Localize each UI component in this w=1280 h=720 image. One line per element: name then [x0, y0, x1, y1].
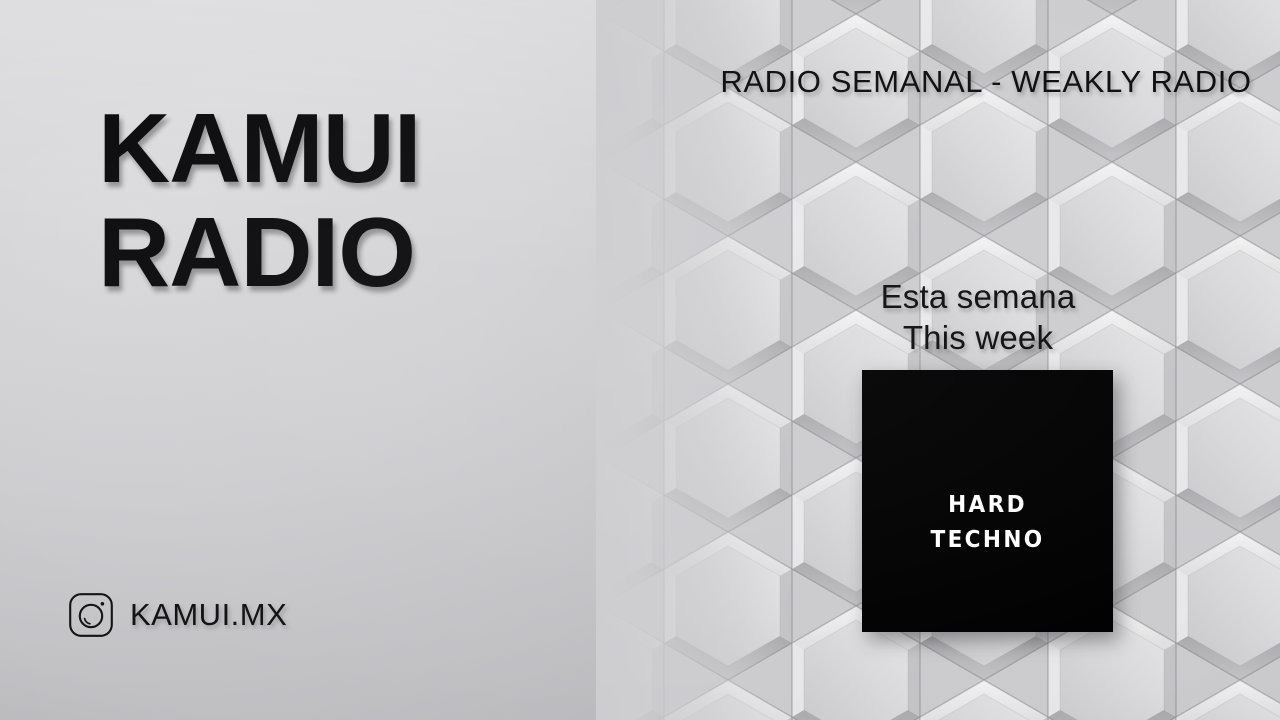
page-title: KAMUI RADIO [98, 96, 421, 304]
genre-card-text: HARD TECHNO [862, 488, 1113, 558]
social-handle[interactable]: KAMUI.MX [68, 592, 287, 638]
social-handle-text: KAMUI.MX [130, 597, 287, 633]
this-week-english: This week [798, 317, 1158, 358]
genre-line-hard: HARD [870, 488, 1106, 523]
brand-line-radio: RADIO [98, 200, 421, 304]
genre-line-techno: TECHNO [870, 523, 1106, 558]
radio-promo-slide: KAMUI RADIO RADIO SEMANAL - WEAKLY RADIO… [0, 0, 1280, 720]
instagram-icon [68, 592, 114, 638]
headline-weekly-radio: RADIO SEMANAL - WEAKLY RADIO [706, 64, 1266, 100]
this-week-spanish: Esta semana [798, 276, 1158, 317]
this-week-label: Esta semana This week [798, 276, 1158, 358]
brand-line-kamui: KAMUI [98, 96, 421, 200]
genre-card: HARD TECHNO [862, 370, 1113, 632]
